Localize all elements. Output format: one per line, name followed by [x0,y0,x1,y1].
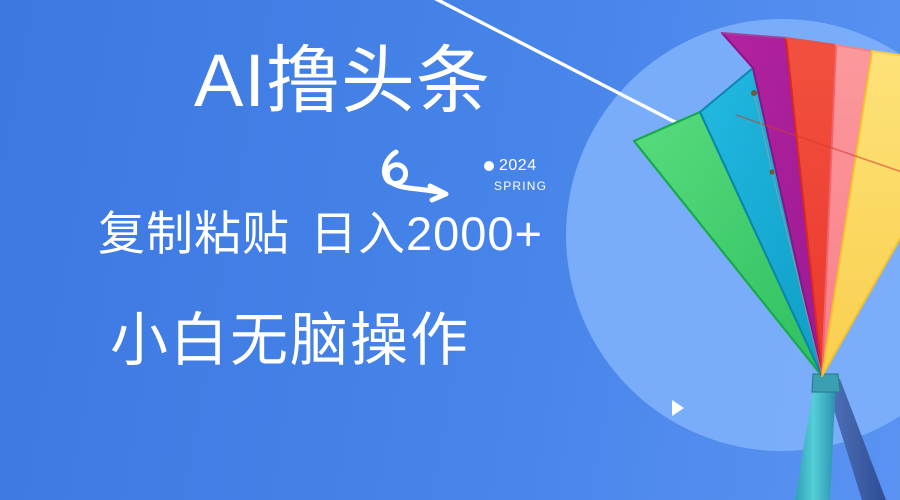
play-arrow-icon [672,400,684,416]
tagline: 小白无脑操作 [110,312,470,370]
badge-year: 2024 [499,158,537,174]
badge-season: SPRING [484,180,547,192]
season-badge: 2024 SPRING [484,158,547,192]
curved-loop-arrow-icon [372,144,464,206]
subline-right: 日入2000+ [310,207,543,260]
subline: 复制粘贴日入2000+ [98,210,543,257]
background-circle [566,19,900,451]
poster-canvas: AI撸头条 2024 SPRING 复制粘贴日入2000+ 小白无脑操作 [0,0,900,500]
subline-left: 复制粘贴 [98,207,290,260]
badge-year-row: 2024 [484,158,547,174]
headline-title: AI撸头条 [194,44,491,118]
bullet-dot-icon [484,161,494,171]
